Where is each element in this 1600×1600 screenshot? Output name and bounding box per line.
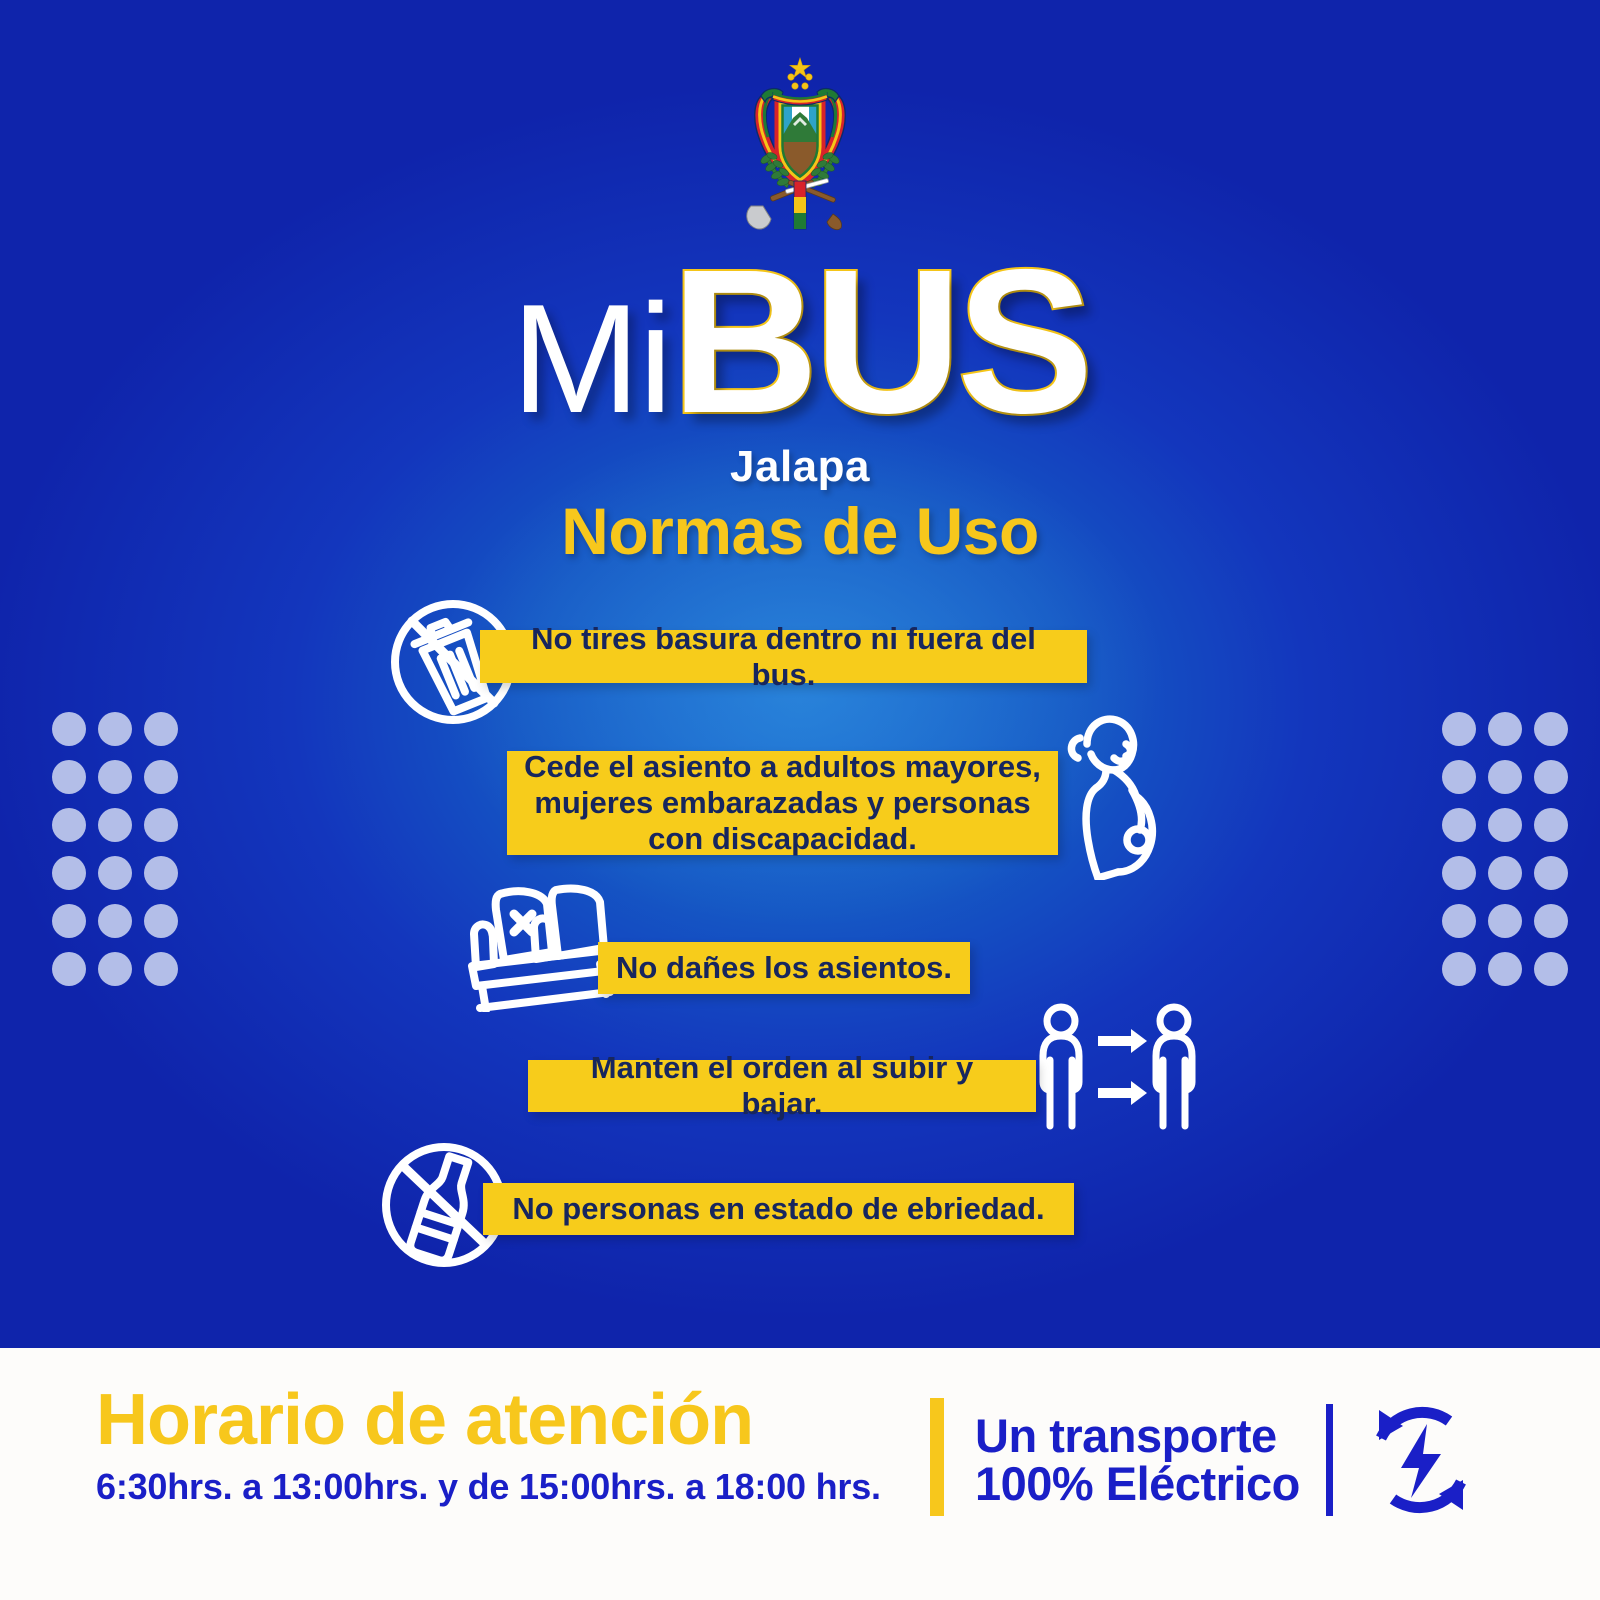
rule-banner-no-seat-damage: No dañes los asientos. [598, 942, 970, 994]
pregnant-woman-icon [1040, 700, 1170, 880]
electric-recycle-bolt-icon [1357, 1396, 1485, 1524]
brand-city: Jalapa [0, 442, 1600, 492]
brand-title: MiBUS [0, 248, 1600, 437]
coat-of-arms-icon [725, 56, 875, 241]
decorative-dot-grid-left [52, 712, 178, 1000]
electric-vertical-divider [1326, 1404, 1333, 1516]
dot [52, 760, 86, 794]
footer-yellow-divider [930, 1398, 944, 1516]
dot [98, 904, 132, 938]
rule-banner-no-littering: No tires basura dentro ni fuera del bus. [480, 630, 1087, 683]
dot [1488, 904, 1522, 938]
dot [1442, 712, 1476, 746]
dot [1442, 904, 1476, 938]
dot [1488, 856, 1522, 890]
dot [1534, 760, 1568, 794]
decorative-dot-grid-right [1442, 712, 1568, 1000]
dot [1442, 760, 1476, 794]
dot [144, 904, 178, 938]
rule-text: No personas en estado de ebriedad. [512, 1191, 1044, 1227]
dot [98, 712, 132, 746]
dot [1534, 904, 1568, 938]
rule-banner-priority-seating: Cede el asiento a adultos mayores, mujer… [507, 751, 1058, 855]
dot [52, 904, 86, 938]
dot [98, 760, 132, 794]
dot [98, 856, 132, 890]
brand-prefix: Mi [511, 272, 671, 445]
schedule-title: Horario de atención [96, 1384, 906, 1456]
dot [1488, 760, 1522, 794]
electric-transport-block: Un transporte 100% Eléctrico [975, 1396, 1485, 1524]
dot [144, 712, 178, 746]
electric-line-1: Un transporte [975, 1412, 1300, 1460]
rule-text: Manten el orden al subir y bajar. [546, 1050, 1018, 1122]
poster-root: MiBUS Jalapa Normas de Uso No tires basu… [0, 0, 1600, 1600]
rule-banner-no-drunk-passengers: No personas en estado de ebriedad. [483, 1183, 1074, 1235]
queue-order-icon [1035, 1000, 1200, 1135]
dot [144, 808, 178, 842]
dot [1442, 952, 1476, 986]
rule-text-line: con discapacidad. [648, 821, 917, 857]
dot [1488, 808, 1522, 842]
rule-text: No tires basura dentro ni fuera del bus. [498, 621, 1069, 693]
dot [1442, 856, 1476, 890]
dot [1488, 952, 1522, 986]
rule-text-line: mujeres embarazadas y personas [534, 785, 1030, 821]
rule-banner-orderly-boarding: Manten el orden al subir y bajar. [528, 1060, 1036, 1112]
dot [98, 808, 132, 842]
rule-text-line: Cede el asiento a adultos mayores, [524, 749, 1041, 785]
dot [144, 856, 178, 890]
schedule-hours: 6:30hrs. a 13:00hrs. y de 15:00hrs. a 18… [96, 1466, 906, 1508]
brand-main: BUS [671, 227, 1089, 456]
page-title: Normas de Uso [0, 493, 1600, 569]
dot [98, 952, 132, 986]
dot [1488, 712, 1522, 746]
schedule-block: Horario de atención 6:30hrs. a 13:00hrs.… [96, 1384, 906, 1508]
dot [1534, 952, 1568, 986]
dot [52, 856, 86, 890]
dot [52, 808, 86, 842]
electric-line-2: 100% Eléctrico [975, 1460, 1300, 1508]
dot [52, 712, 86, 746]
dot [144, 760, 178, 794]
rule-text: No dañes los asientos. [616, 950, 952, 986]
electric-transport-text: Un transporte 100% Eléctrico [975, 1412, 1300, 1508]
footer-bar: Horario de atención 6:30hrs. a 13:00hrs.… [0, 1348, 1600, 1600]
dot [52, 952, 86, 986]
dot [1534, 856, 1568, 890]
dot [144, 952, 178, 986]
dot [1442, 808, 1476, 842]
dot [1534, 712, 1568, 746]
dot [1534, 808, 1568, 842]
